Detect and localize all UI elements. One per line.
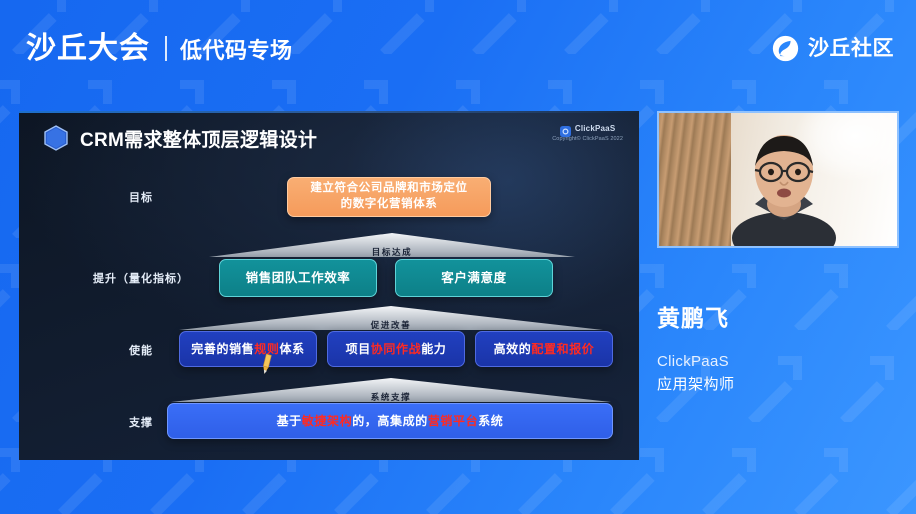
row-boxes-goal: 建立符合公司品牌和市场定位 的数字化营销体系: [287, 177, 491, 217]
arrow-band-system-support: 系统支撑: [171, 378, 611, 404]
goal-line-2: 的数字化营销体系: [341, 198, 438, 210]
event-branding: 沙丘大会 低代码专场: [26, 33, 293, 64]
enablement-text-highlight: 配置和报价: [531, 342, 594, 356]
enablement-text-pre: 项目: [346, 342, 371, 356]
vendor-logo-row: ClickPaaS: [552, 123, 623, 134]
support-text-highlight-2: 营销平台: [428, 414, 478, 428]
slide-content: CRM需求整体顶层逻辑设计 ClickPaaS Copyright© Click…: [19, 111, 639, 460]
arrow-band-label: 促进改善: [179, 319, 603, 331]
event-header: 沙丘大会 低代码专场 沙丘社区: [0, 0, 916, 96]
event-title: 沙丘大会: [26, 34, 150, 64]
slide-title: CRM需求整体顶层逻辑设计: [80, 125, 317, 152]
row-boxes-support: 基于敏捷架构的，高集成的营销平台系统: [167, 403, 613, 439]
arrow-band-label: 目标达成: [209, 246, 575, 258]
event-track-title: 低代码专场: [180, 40, 293, 62]
support-box: 基于敏捷架构的，高集成的营销平台系统: [167, 403, 613, 439]
goal-line-1: 建立符合公司品牌和市场定位: [310, 182, 467, 194]
presentation-stage: 沙丘大会 低代码专场 沙丘社区: [0, 0, 916, 514]
speaker-portrait: [709, 126, 859, 246]
enablement-text-pre: 完善的销售: [191, 342, 254, 356]
support-text-pre: 基于: [277, 414, 302, 428]
community-logo: 沙丘社区: [772, 35, 894, 62]
row-label-goal: 目标: [81, 189, 201, 205]
arrow-band-goal-achievement: 目标达成: [209, 233, 575, 259]
vendor-name: ClickPaaS: [575, 124, 616, 134]
enablement-box: 完善的销售规则体系: [179, 331, 317, 367]
enablement-text-post: 体系: [280, 342, 305, 356]
shaqiu-s-logo-icon: [772, 35, 799, 62]
speaker-role: 应用架构师: [657, 373, 899, 396]
logic-diagram: 目标 建立符合公司品牌和市场定位 的数字化营销体系: [19, 163, 639, 460]
speaker-organization: ClickPaaS: [657, 350, 899, 373]
enablement-box: 项目协同作战能力: [327, 331, 465, 367]
hexagon-icon: [43, 124, 69, 152]
support-text-mid: 的，高集成的: [352, 414, 428, 428]
speaker-name: 黄鹏飞: [657, 299, 899, 333]
slide-header: CRM需求整体顶层逻辑设计: [43, 124, 317, 152]
diagonal-arrow-watermark-icon: [782, 440, 856, 514]
enablement-text-pre: 高效的: [494, 342, 532, 356]
enablement-text-highlight: 协同作战: [371, 342, 421, 356]
speaker-panel: 黄鹏飞 ClickPaaS 应用架构师: [657, 111, 899, 397]
arrow-band-label: 系统支撑: [171, 391, 611, 403]
slide-top-accent: [19, 111, 639, 113]
metric-box: 客户满意度: [395, 259, 553, 297]
row-boxes-enablement: 完善的销售规则体系 项目协同作战能力: [179, 331, 613, 367]
vertical-divider: [165, 36, 167, 61]
clickpaas-logo-icon: [560, 123, 571, 134]
diagonal-arrow-watermark-icon: [690, 440, 764, 514]
arrow-band-improvement: 促进改善: [179, 306, 603, 332]
webcam-video-feed[interactable]: [657, 111, 899, 248]
enablement-box: 高效的配置和报价: [475, 331, 613, 367]
vendor-copyright: Copyright© ClickPaaS 2022: [552, 136, 623, 143]
enablement-text-post: 能力: [421, 342, 446, 356]
community-name: 沙丘社区: [808, 38, 894, 59]
row-boxes-metrics: 销售团队工作效率 客户满意度: [219, 259, 553, 297]
row-label-metrics: 提升（量化指标）: [81, 270, 201, 286]
vendor-logo-block: ClickPaaS Copyright© ClickPaaS 2022: [552, 123, 623, 143]
enablement-text-highlight: 规则: [254, 342, 279, 356]
support-text-post: 系统: [478, 414, 503, 428]
goal-box: 建立符合公司品牌和市场定位 的数字化营销体系: [287, 177, 491, 217]
support-text-highlight-1: 敏捷架构: [302, 414, 352, 428]
diagonal-arrow-watermark-icon: [874, 440, 916, 514]
metric-box: 销售团队工作效率: [219, 259, 377, 297]
